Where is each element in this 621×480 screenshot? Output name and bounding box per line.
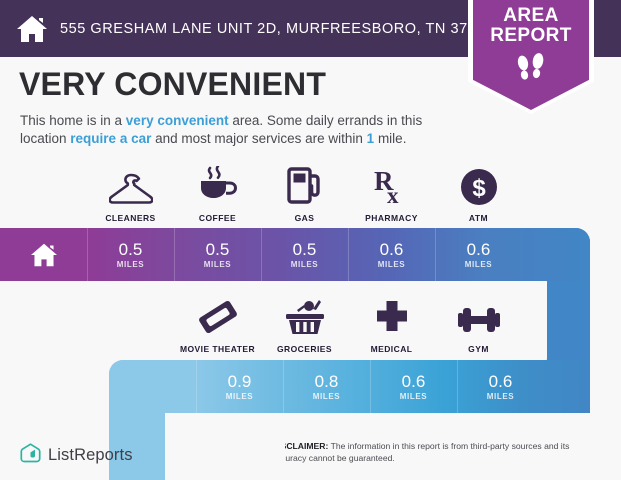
area-report-badge: AREA REPORT [473, 0, 589, 110]
category-pharmacy: R x PHARMACY [348, 164, 435, 223]
category-label: CLEANERS [105, 213, 155, 223]
distance-value: 0.5 [293, 240, 317, 259]
category-coffee: COFFEE [174, 164, 261, 223]
badge-line-1: AREA [473, 6, 589, 26]
subtitle-highlight-2: require a car [70, 131, 151, 146]
distance-unit: MILES [291, 260, 318, 269]
property-address: 555 GRESHAM LANE UNIT 2D, MURFREESBORO, … [60, 21, 494, 37]
ticket-icon [197, 295, 239, 337]
distance-value: 0.6 [402, 372, 426, 391]
distance-value: 0.5 [119, 240, 143, 259]
row2-lead-cell [109, 360, 196, 413]
category-atm: $ ATM [435, 164, 522, 223]
home-icon [16, 14, 48, 44]
category-label: COFFEE [199, 213, 236, 223]
distance-cell-medical: 0.6 MILES [370, 360, 457, 413]
distance-value: 0.8 [315, 372, 339, 391]
category-label: MEDICAL [371, 344, 413, 354]
distance-unit: MILES [226, 392, 253, 401]
category-label: ATM [469, 213, 488, 223]
distance-bar-row-2: 0.9 MILES 0.8 MILES 0.6 MILES 0.6 MILES [109, 360, 590, 413]
category-label: GAS [295, 213, 315, 223]
distance-value: 0.6 [380, 240, 404, 259]
distance-cell-atm: 0.6 MILES [435, 228, 522, 281]
category-groceries: GROCERIES [261, 295, 348, 354]
area-report-page: 555 GRESHAM LANE UNIT 2D, MURFREESBORO, … [0, 0, 621, 480]
category-cleaners: CLEANERS [87, 164, 174, 223]
distance-unit: MILES [204, 260, 231, 269]
category-movie-theater: MOVIE THEATER [174, 295, 261, 354]
hanger-icon [109, 164, 153, 206]
subtitle-text-4: mile. [374, 131, 406, 146]
row2-icon-spacer-a [0, 295, 87, 354]
page-title: VERY CONVENIENT [19, 66, 326, 103]
footprints-icon [473, 52, 589, 87]
distance-cell-groceries: 0.8 MILES [283, 360, 370, 413]
distance-cell-cleaners: 0.5 MILES [87, 228, 174, 281]
badge-label: AREA REPORT [473, 6, 589, 46]
svg-text:$: $ [472, 175, 486, 202]
category-row-1-icons: CLEANERS COFFEE GAS [0, 164, 621, 223]
distance-unit: MILES [313, 392, 340, 401]
row1-home-cell [0, 228, 87, 281]
distance-cell-gym: 0.6 MILES [457, 360, 544, 413]
row1-icon-spacer [0, 164, 87, 223]
distance-cell-gas: 0.5 MILES [261, 228, 348, 281]
subtitle-highlight-1: very convenient [126, 113, 229, 128]
cross-icon [373, 295, 411, 337]
listreports-house-icon [20, 442, 41, 469]
category-label: PHARMACY [365, 213, 418, 223]
disclaimer: DISCLAIMER: The information in this repo… [272, 441, 597, 464]
distance-unit: MILES [465, 260, 492, 269]
category-label: GYM [468, 344, 489, 354]
distance-cell-pharmacy: 0.6 MILES [348, 228, 435, 281]
listreports-logo: ListReports [20, 442, 133, 469]
distance-cell-movie-theater: 0.9 MILES [196, 360, 283, 413]
dumbbell-icon [456, 295, 502, 337]
subtitle-text-1: This home is in a [20, 113, 126, 128]
distance-unit: MILES [487, 392, 514, 401]
category-gym: GYM [435, 295, 522, 354]
listreports-wordmark: ListReports [48, 446, 133, 465]
category-medical: MEDICAL [348, 295, 435, 354]
bar-tail-notch [165, 413, 285, 480]
distance-value: 0.6 [489, 372, 513, 391]
distance-bar-row-1: 0.5 MILES 0.5 MILES 0.5 MILES 0.6 MILES … [0, 228, 590, 281]
svg-text:x: x [387, 183, 399, 206]
distance-unit: MILES [117, 260, 144, 269]
rx-icon: R x [374, 164, 410, 206]
basket-icon [283, 295, 327, 337]
page-subtitle: This home is in a very convenient area. … [20, 112, 455, 148]
category-row-2-icons: MOVIE THEATER GROCERIES [0, 295, 621, 354]
category-label: GROCERIES [277, 344, 332, 354]
distance-unit: MILES [400, 392, 427, 401]
distance-value: 0.5 [206, 240, 230, 259]
gas-pump-icon [286, 164, 324, 206]
coffee-icon [197, 164, 239, 206]
badge-line-2: REPORT [473, 26, 589, 46]
distance-unit: MILES [378, 260, 405, 269]
subtitle-text-3: and most major services are within [151, 131, 366, 146]
category-label: MOVIE THEATER [180, 344, 255, 354]
row2-icon-spacer-b [87, 295, 174, 354]
distance-cell-coffee: 0.5 MILES [174, 228, 261, 281]
distance-value: 0.9 [228, 372, 252, 391]
dollar-circle-icon: $ [460, 164, 498, 206]
distance-value: 0.6 [467, 240, 491, 259]
category-gas: GAS [261, 164, 348, 223]
